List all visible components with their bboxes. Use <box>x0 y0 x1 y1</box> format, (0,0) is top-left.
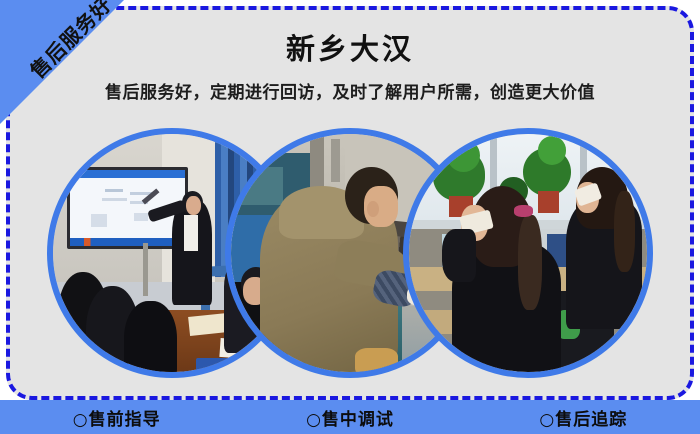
footer-label-0: 售前指导 <box>89 410 161 430</box>
service-stage-bar: ○售前指导 ○售中调试 ○售后追踪 <box>0 400 700 434</box>
footer-item-commissioning: ○售中调试 <box>233 405 466 430</box>
photo-circle-group <box>0 128 700 380</box>
page-title: 新乡大汉 <box>0 26 700 68</box>
support-calls-photo <box>409 134 647 372</box>
footer-label-2: 售后追踪 <box>555 410 627 430</box>
photo-circle-support-calls <box>403 128 653 378</box>
footer-marker-0: ○ <box>73 410 89 430</box>
footer-item-aftersales: ○售后追踪 <box>467 405 700 430</box>
footer-item-presales: ○售前指导 <box>0 405 233 430</box>
footer-marker-2: ○ <box>539 410 555 430</box>
footer-label-1: 售中调试 <box>322 410 394 430</box>
service-banner: 售后服务好 新乡大汉 售后服务好，定期进行回访，及时了解用户所需，创造更大价值 <box>0 0 700 434</box>
page-subtitle: 售后服务好，定期进行回访，及时了解用户所需，创造更大价值 <box>0 78 700 103</box>
footer-marker-1: ○ <box>306 410 322 430</box>
